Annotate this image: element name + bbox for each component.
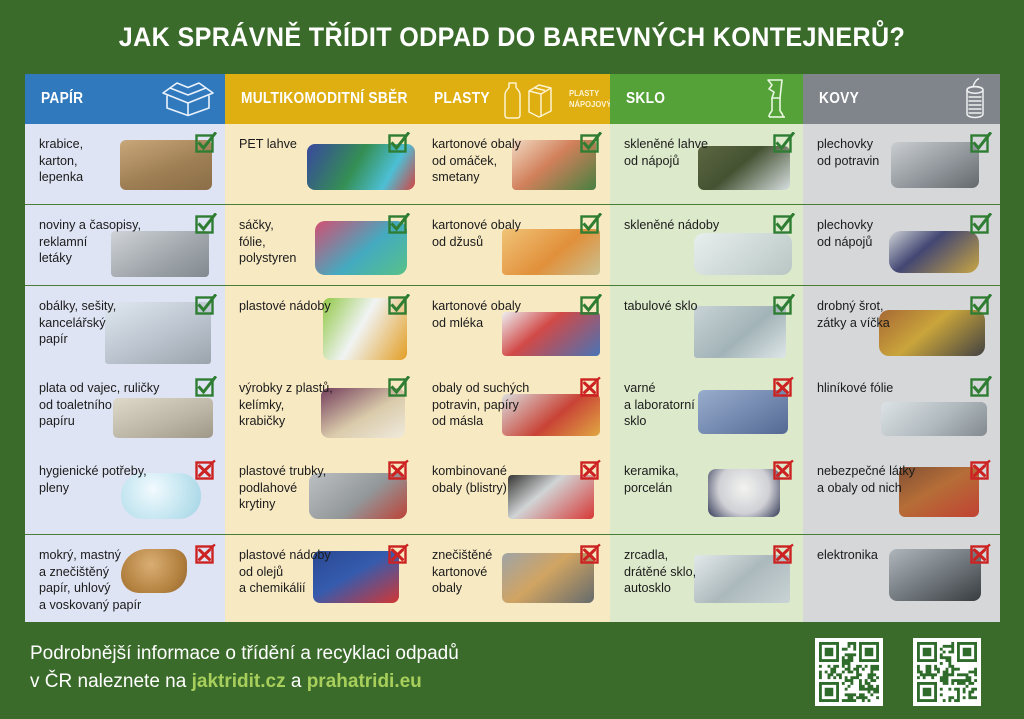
row-label: hygienické potřeby, pleny xyxy=(39,463,183,496)
row-label: plastové nádoby xyxy=(239,298,376,315)
column-header-plasty[interactable]: PLASTYPLASTYNÁPOJOVÝ KARTON xyxy=(418,74,610,124)
allowed-check-icon xyxy=(388,213,410,235)
row-label: sáčky, fólie, polystyren xyxy=(239,217,376,267)
row-label: nebezpečné látky a obaly od nich xyxy=(817,463,958,496)
footer-conjunction: a xyxy=(286,671,307,692)
table-row: drobný šrot, zátky a víčka xyxy=(803,285,1000,368)
column-title-papir: PAPÍR xyxy=(41,90,83,108)
row-label: kartonové obaly od džusů xyxy=(432,217,568,250)
not-allowed-cross-icon xyxy=(580,376,602,398)
table-row: plechovky od nápojů xyxy=(803,204,1000,285)
not-allowed-cross-icon xyxy=(773,376,795,398)
allowed-check-icon xyxy=(970,132,992,154)
row-label: znečištěné kartonové obaly xyxy=(432,547,568,597)
column-body-sklo: skleněné lahve od nápojůskleněné nádobyt… xyxy=(610,124,803,622)
row-label: plechovky od potravin xyxy=(817,136,958,169)
column-sklo: SKLOskleněné lahve od nápojůskleněné nád… xyxy=(610,74,803,622)
row-label: mokrý, mastný a znečištěný papír, uhlový… xyxy=(39,547,183,613)
row-label: elektronika xyxy=(817,547,958,564)
table-row: varné a laboratorní sklo xyxy=(610,368,803,451)
allowed-check-icon xyxy=(388,376,410,398)
row-label: hliníkové fólie xyxy=(817,380,958,397)
row-label: varné a laboratorní sklo xyxy=(624,380,761,430)
recycling-poster: JAK SPRÁVNĚ TŘÍDIT ODPAD DO BAREVNÝCH KO… xyxy=(0,0,1024,719)
column-body-multikomoditni: PET lahvesáčky, fólie, polystyrenplastov… xyxy=(225,124,418,622)
not-allowed-cross-icon xyxy=(388,459,410,481)
row-label: kartonové obaly od omáček, smetany xyxy=(432,136,568,186)
glass-jars-photo xyxy=(694,233,792,275)
table-row: kartonové obaly od omáček, smetany xyxy=(418,124,610,204)
broken-glass-icon xyxy=(761,77,793,121)
allowed-check-icon xyxy=(388,294,410,316)
row-label: plastové trubky, podlahové krytiny xyxy=(239,463,376,513)
table-row: krabice, karton, lepenka xyxy=(25,124,225,204)
column-body-kovy: plechovky od potravinplechovky od nápojů… xyxy=(803,124,1000,622)
row-label: kombinované obaly (blistry) xyxy=(432,463,568,496)
tin-can-icon xyxy=(960,78,990,120)
table-row: kombinované obaly (blistry) xyxy=(418,451,610,534)
column-header-kovy[interactable]: KOVY xyxy=(803,74,1000,124)
allowed-check-icon xyxy=(773,213,795,235)
column-papir: PAPÍRkrabice, karton, lepenkanoviny a ča… xyxy=(25,74,225,622)
qr-code-prahatridi[interactable] xyxy=(913,638,981,706)
table-row: sáčky, fólie, polystyren xyxy=(225,204,418,285)
column-header-right-kovy xyxy=(960,78,990,120)
not-allowed-cross-icon xyxy=(773,543,795,565)
column-title-kovy: KOVY xyxy=(819,90,859,108)
table-row: hliníkové fólie xyxy=(803,368,1000,451)
table-row: nebezpečné látky a obaly od nich xyxy=(803,451,1000,534)
table-row: tabulové sklo xyxy=(610,285,803,368)
row-label: noviny a časopisy, reklamní letáky xyxy=(39,217,183,267)
table-row: plastové nádoby od olejů a chemikálií xyxy=(225,534,418,622)
table-row: obálky, sešity, kancelářský papír xyxy=(25,285,225,368)
table-row: elektronika xyxy=(803,534,1000,622)
column-header-sklo[interactable]: SKLO xyxy=(610,74,803,124)
row-label: krabice, karton, lepenka xyxy=(39,136,183,186)
not-allowed-cross-icon xyxy=(388,543,410,565)
table-row: mokrý, mastný a znečištěný papír, uhlový… xyxy=(25,534,225,622)
bottle-carton-icon xyxy=(499,79,561,119)
row-label: PET lahve xyxy=(239,136,376,153)
page-title: JAK SPRÁVNĚ TŘÍDIT ODPAD DO BAREVNÝCH KO… xyxy=(36,22,988,53)
table-row: zrcadla, drátěné sklo, autosklo xyxy=(610,534,803,622)
allowed-check-icon xyxy=(970,294,992,316)
not-allowed-cross-icon xyxy=(580,543,602,565)
link-prahatridi[interactable]: prahatridi.eu xyxy=(307,671,422,692)
column-body-papir: krabice, karton, lepenkanoviny a časopis… xyxy=(25,124,225,622)
footer-line-1: Podrobnější informace o třídění a recykl… xyxy=(30,640,650,668)
table-row: plastové nádoby xyxy=(225,285,418,368)
table-row: znečištěné kartonové obaly xyxy=(418,534,610,622)
not-allowed-cross-icon xyxy=(970,543,992,565)
row-label: skleněné nádoby xyxy=(624,217,761,234)
column-header-right-papir xyxy=(161,81,215,117)
not-allowed-cross-icon xyxy=(195,543,217,565)
row-label: drobný šrot, zátky a víčka xyxy=(817,298,958,331)
allowed-check-icon xyxy=(388,132,410,154)
column-kovy: KOVYplechovky od potravinplechovky od ná… xyxy=(803,74,1000,622)
table-row: keramika, porcelán xyxy=(610,451,803,534)
row-label: plechovky od nápojů xyxy=(817,217,958,250)
row-label: výrobky z plastů, kelímky, krabičky xyxy=(239,380,376,430)
table-row: skleněné lahve od nápojů xyxy=(610,124,803,204)
footer-line-2-prefix: v ČR naleznete na xyxy=(30,671,192,692)
row-label: keramika, porcelán xyxy=(624,463,761,496)
table-row: kartonové obaly od mléka xyxy=(418,285,610,368)
row-label: plastové nádoby od olejů a chemikálií xyxy=(239,547,376,597)
column-body-plasty: kartonové obaly od omáček, smetanykarton… xyxy=(418,124,610,622)
sorting-table: PAPÍRkrabice, karton, lepenkanoviny a ča… xyxy=(25,74,1000,622)
table-row: plastové trubky, podlahové krytiny xyxy=(225,451,418,534)
table-row: plata od vajec, ruličky od toaletního pa… xyxy=(25,368,225,451)
allowed-check-icon xyxy=(970,213,992,235)
column-header-right-sklo xyxy=(761,77,793,121)
row-label: plata od vajec, ruličky od toaletního pa… xyxy=(39,380,183,430)
allowed-check-icon xyxy=(773,132,795,154)
allowed-check-icon xyxy=(773,294,795,316)
row-label: kartonové obaly od mléka xyxy=(432,298,568,331)
not-allowed-cross-icon xyxy=(580,459,602,481)
column-header-multikomoditni[interactable]: MULTIKOMODITNÍ SBĚR xyxy=(225,74,418,124)
allowed-check-icon xyxy=(195,213,217,235)
row-label: zrcadla, drátěné sklo, autosklo xyxy=(624,547,761,597)
row-label: obálky, sešity, kancelářský papír xyxy=(39,298,183,348)
qr-code-group xyxy=(815,638,981,706)
column-plasty: PLASTYPLASTYNÁPOJOVÝ KARTONkartonové oba… xyxy=(418,74,610,622)
open-box-icon xyxy=(161,81,215,117)
allowed-check-icon xyxy=(580,132,602,154)
table-row: skleněné nádoby xyxy=(610,204,803,285)
table-row: noviny a časopisy, reklamní letáky xyxy=(25,204,225,285)
allowed-check-icon xyxy=(580,294,602,316)
table-row: obaly od suchých potravin, papíry od más… xyxy=(418,368,610,451)
qr-code-jaktridit[interactable] xyxy=(815,638,883,706)
column-multikomoditni: MULTIKOMODITNÍ SBĚRPET lahvesáčky, fólie… xyxy=(225,74,418,622)
allowed-check-icon xyxy=(195,132,217,154)
table-row: plechovky od potravin xyxy=(803,124,1000,204)
table-row: PET lahve xyxy=(225,124,418,204)
column-title-multikomoditni: MULTIKOMODITNÍ SBĚR xyxy=(241,90,408,108)
table-row: kartonové obaly od džusů xyxy=(418,204,610,285)
allowed-check-icon xyxy=(580,213,602,235)
not-allowed-cross-icon xyxy=(970,459,992,481)
link-jaktridit[interactable]: jaktridit.cz xyxy=(192,671,286,692)
row-label: obaly od suchých potravin, papíry od más… xyxy=(432,380,568,430)
allowed-check-icon xyxy=(195,376,217,398)
table-row: hygienické potřeby, pleny xyxy=(25,451,225,534)
column-header-papir[interactable]: PAPÍR xyxy=(25,74,225,124)
row-label: tabulové sklo xyxy=(624,298,761,315)
row-label: skleněné lahve od nápojů xyxy=(624,136,761,169)
allowed-check-icon xyxy=(195,294,217,316)
aluminium-foil-photo xyxy=(881,402,987,436)
column-title-plasty: PLASTY xyxy=(434,90,490,108)
footer-line-2: v ČR naleznete na jaktridit.cz a prahatr… xyxy=(30,668,650,696)
footer-text: Podrobnější informace o třídění a recykl… xyxy=(30,640,650,696)
not-allowed-cross-icon xyxy=(773,459,795,481)
column-title-sklo: SKLO xyxy=(626,90,665,108)
not-allowed-cross-icon xyxy=(195,459,217,481)
allowed-check-icon xyxy=(970,376,992,398)
table-row: výrobky z plastů, kelímky, krabičky xyxy=(225,368,418,451)
